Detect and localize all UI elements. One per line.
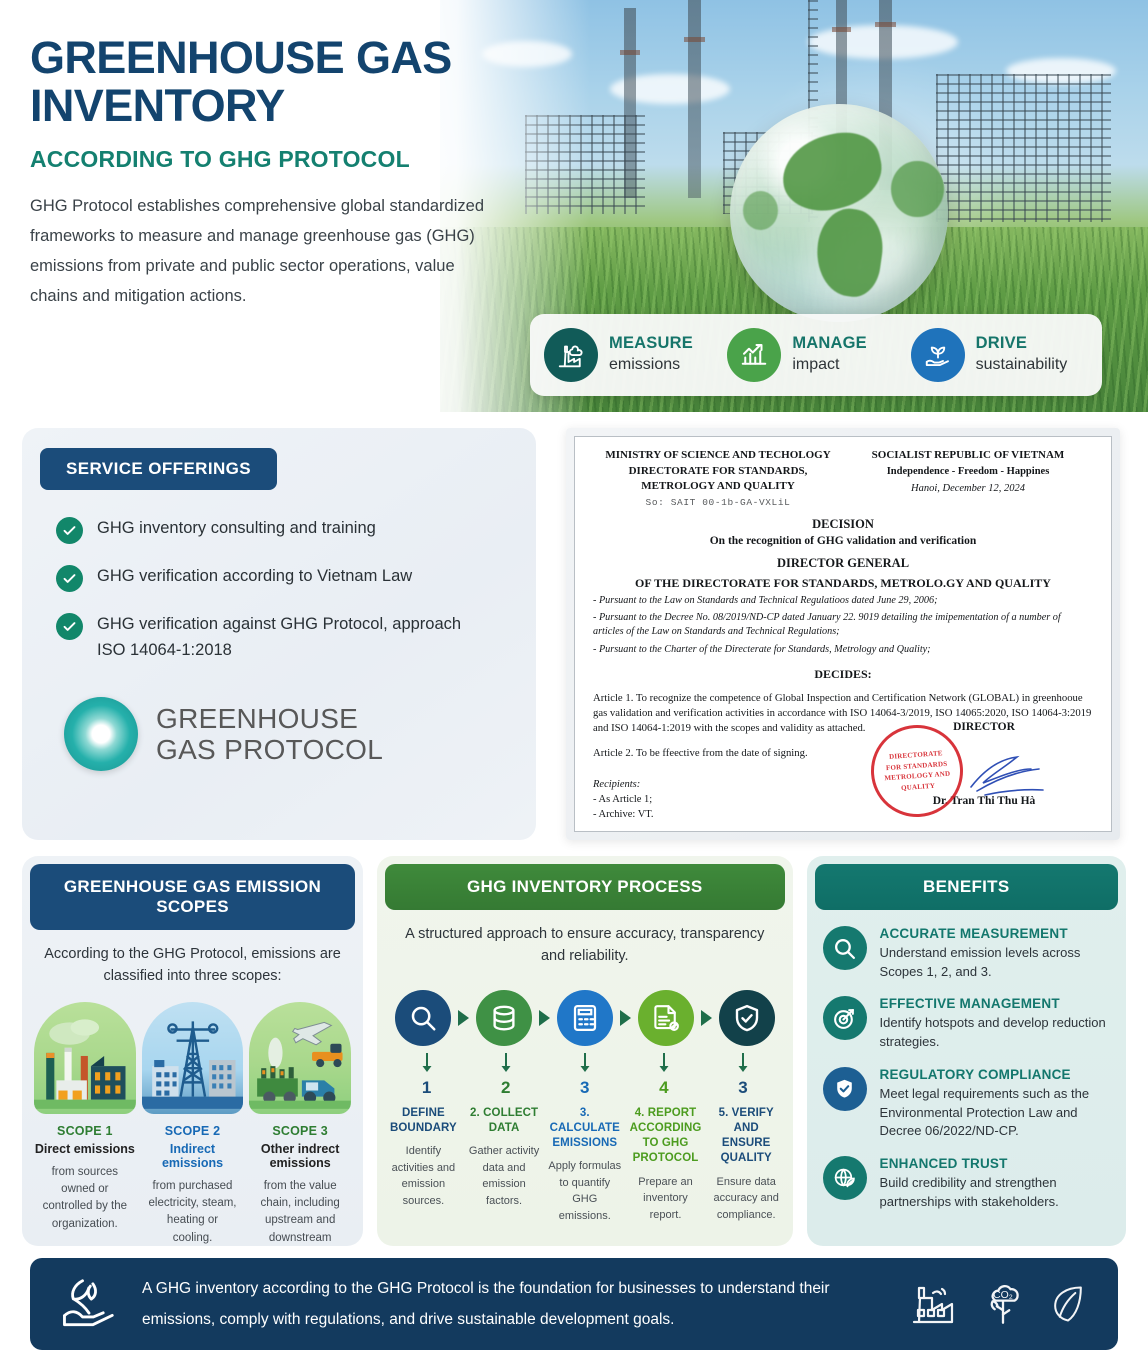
magnifier-icon <box>408 1003 438 1033</box>
process-number: 2 <box>466 1052 545 1098</box>
target-arrow-icon <box>823 996 867 1040</box>
bar-chart-growth-icon <box>727 328 781 382</box>
cert-place-date: Hanoi, December 12, 2024 <box>843 483 1093 494</box>
cert-metrology: METROLOGY AND QUALITY <box>593 479 843 495</box>
database-icon <box>489 1003 519 1033</box>
cert-directorate: DIRECTORATE FOR STANDARDS, <box>593 464 843 480</box>
badge-sub: impact <box>792 355 867 376</box>
report-leaf-icon <box>651 1003 681 1033</box>
badge-measure: MEASURE emissions <box>544 328 721 382</box>
process-arrow-icon <box>458 1010 469 1026</box>
footer-banner: A GHG inventory according to the GHG Pro… <box>30 1258 1118 1350</box>
scope-kind: Direct emissions <box>34 1142 136 1156</box>
svg-text:CO₂: CO₂ <box>993 1290 1013 1301</box>
service-item-label: GHG verification against GHG Protocol, a… <box>97 612 487 663</box>
benefits-panel-header: BENEFITS <box>815 864 1118 910</box>
scope-desc: from sources owned or controlled by the … <box>34 1164 136 1233</box>
scopes-panel-header: GREENHOUSE GAS EMISSION SCOPES <box>30 864 355 930</box>
benefits-list: ACCURATE MEASUREMENT Understand emission… <box>807 910 1126 1211</box>
page-title: GREENHOUSE GAS INVENTORY <box>30 34 500 130</box>
down-arrow-icon <box>658 1052 670 1076</box>
power-tower-illustration <box>142 1002 244 1114</box>
process-step-1-icon <box>395 990 451 1046</box>
page-subtitle: ACCORDING TO GHG PROTOCOL <box>30 146 500 173</box>
signature-icon <box>963 747 1083 801</box>
certificate-image: MINISTRY OF SCIENCE AND TECHOLOGY DIRECT… <box>566 428 1120 840</box>
process-number: 3 <box>545 1052 624 1098</box>
service-item-label: GHG verification according to Vietnam La… <box>97 564 412 590</box>
scope-title: SCOPE 2 <box>142 1124 244 1138</box>
benefit-title: REGULATORY COMPLIANCE <box>880 1067 1110 1082</box>
benefit-item: REGULATORY COMPLIANCE Meet legal require… <box>823 1067 1110 1141</box>
hero-badge-bar: MEASURE emissions MANAGE impact <box>530 314 1102 396</box>
scope-2: SCOPE 2 Indirect emissions from purchase… <box>142 1002 244 1246</box>
badge-title: MANAGE <box>792 334 867 354</box>
cert-recipient-2: - Archive: VT. <box>593 807 1093 822</box>
benefit-desc: Understand emission levels across Scopes… <box>880 944 1110 981</box>
process-panel-subtitle: A structured approach to ensure accuracy… <box>399 923 771 968</box>
check-circle-icon <box>56 613 83 640</box>
process-panel-header: GHG INVENTORY PROCESS <box>385 864 785 910</box>
globe-leaf-icon <box>823 1156 867 1200</box>
mid-section: SERVICE OFFERINGS GHG inventory consulti… <box>0 412 1148 852</box>
process-arrow-icon <box>701 1010 712 1026</box>
cert-of-directorate: OF THE DIRECTORATE FOR STANDARDS, METROL… <box>593 576 1093 591</box>
process-step-label-1: DEFINE BOUNDARY Identify activities and … <box>383 1106 464 1225</box>
down-arrow-icon <box>737 1052 749 1076</box>
benefit-title: ACCURATE MEASUREMENT <box>880 926 1110 941</box>
service-offerings-header: SERVICE OFFERINGS <box>40 448 277 490</box>
cert-motto: Independence - Freedom - Happines <box>843 464 1093 479</box>
badge-title: MEASURE <box>609 334 693 354</box>
factory-illustration <box>34 1002 136 1114</box>
process-numbers-row: 1 2 3 4 3 <box>377 1052 793 1098</box>
benefit-title: EFFECTIVE MANAGEMENT <box>880 996 1110 1011</box>
hand-leaf-icon <box>911 328 965 382</box>
process-step-label-5: 5. VERIFY AND ENSURE QUALITY Ensure data… <box>706 1106 787 1225</box>
list-item: GHG verification according to Vietnam La… <box>56 564 536 592</box>
infographic-page: GREENHOUSE GAS INVENTORY ACCORDING TO GH… <box>0 0 1148 1368</box>
badge-sub: emissions <box>609 355 693 376</box>
benefit-title: ENHANCED TRUST <box>880 1156 1110 1171</box>
process-step-4-icon <box>638 990 694 1046</box>
cert-number: So: SAIT 00-1b-GA-VXLiL <box>593 497 843 508</box>
scopes-grid: SCOPE 1 Direct emissions from sources ow… <box>22 1002 363 1246</box>
scope-title: SCOPE 1 <box>34 1124 136 1138</box>
scope-desc: from purchased electricity, steam, heati… <box>142 1178 244 1246</box>
footer-text: A GHG inventory according to the GHG Pro… <box>142 1273 884 1335</box>
magnifier-icon <box>823 926 867 970</box>
co2-tree-icon: CO₂ <box>976 1279 1030 1329</box>
badge-drive: DRIVE sustainability <box>911 328 1088 382</box>
glass-globe-icon <box>730 104 948 322</box>
benefits-panel: BENEFITS ACCURATE MEASUREMENT Understand… <box>807 856 1126 1246</box>
scope-1: SCOPE 1 Direct emissions from sources ow… <box>34 1002 136 1246</box>
process-number: 3 <box>703 1052 782 1098</box>
cert-signature-block: DIRECTOR DIRECTORATE FOR STANDARDS METRO… <box>879 721 1089 807</box>
factory-icon <box>906 1280 960 1328</box>
scope-kind: Other indrect emissions <box>249 1142 351 1170</box>
footer-icons: CO₂ <box>906 1279 1090 1329</box>
logo-line-2: GAS PROTOCOL <box>156 734 383 765</box>
down-arrow-icon <box>421 1052 433 1076</box>
badge-manage: MANAGE impact <box>727 328 904 382</box>
benefit-desc: Build credibility and strengthen partner… <box>880 1174 1110 1211</box>
benefit-desc: Identify hotspots and develop reduction … <box>880 1014 1110 1051</box>
process-step-label-2: 2. COLLECT DATA Gather activity data and… <box>464 1106 545 1225</box>
benefit-desc: Meet legal requirements such as the Envi… <box>880 1085 1110 1141</box>
benefit-item: ACCURATE MEASUREMENT Understand emission… <box>823 926 1110 981</box>
process-number: 4 <box>624 1052 703 1098</box>
down-arrow-icon <box>500 1052 512 1076</box>
benefit-item: EFFECTIVE MANAGEMENT Identify hotspots a… <box>823 996 1110 1051</box>
process-step-2-icon <box>476 990 532 1046</box>
scope-desc: from the value chain, including upstream… <box>249 1178 351 1246</box>
service-offerings-card: SERVICE OFFERINGS GHG inventory consulti… <box>22 428 536 840</box>
hero-text-block: GREENHOUSE GAS INVENTORY ACCORDING TO GH… <box>30 34 500 311</box>
ghg-protocol-mark-icon <box>64 697 138 771</box>
scopes-panel-subtitle: According to the GHG Protocol, emissions… <box>44 943 341 988</box>
process-panel: GHG INVENTORY PROCESS A structured appro… <box>377 856 793 1246</box>
process-labels-row: DEFINE BOUNDARY Identify activities and … <box>377 1106 793 1225</box>
down-arrow-icon <box>579 1052 591 1076</box>
cert-republic: SOCIALIST REPUBLIC OF VIETNAM <box>843 448 1093 464</box>
list-item: GHG verification against GHG Protocol, a… <box>56 612 536 663</box>
cert-director-general: DIRECTOR GENERAL <box>593 556 1093 571</box>
badge-title: DRIVE <box>976 334 1068 354</box>
benefit-item: ENHANCED TRUST Build credibility and str… <box>823 1156 1110 1211</box>
process-steps-row <box>377 990 793 1046</box>
cert-decides: DECIDES: <box>593 667 1093 682</box>
hand-leaf-icon <box>58 1273 120 1335</box>
cert-pursuant-3: - Pursuant to the Charter of the Directe… <box>593 643 1093 657</box>
scope-kind: Indirect emissions <box>142 1142 244 1170</box>
process-step-label-4: 4. REPORT ACCORDING TO GHG PROTOCOL Prep… <box>625 1106 706 1225</box>
ghg-protocol-logo: GREENHOUSE GAS PROTOCOL <box>64 697 536 771</box>
process-step-label-3: 3. CALCULATE EMISSIONS Apply formulas to… <box>544 1106 625 1225</box>
hero-paragraph: GHG Protocol establishes comprehensive g… <box>30 191 500 311</box>
badge-sub: sustainability <box>976 355 1068 376</box>
scope-3: SCOPE 3 Other indrect emissions from the… <box>249 1002 351 1246</box>
factory-cloud-icon <box>544 328 598 382</box>
cert-pursuant-1: - Pursuant to the Law on Standards and T… <box>593 594 1093 608</box>
process-step-3-icon <box>557 990 613 1046</box>
scopes-panel: GREENHOUSE GAS EMISSION SCOPES According… <box>22 856 363 1246</box>
panels-row: GREENHOUSE GAS EMISSION SCOPES According… <box>0 856 1148 1246</box>
process-arrow-icon <box>539 1010 550 1026</box>
check-circle-icon <box>56 517 83 544</box>
scope-title: SCOPE 3 <box>249 1124 351 1138</box>
cert-pursuant-2: - Pursuant to the Decree No. 08/2019/ND-… <box>593 611 1093 640</box>
shield-check-icon <box>732 1003 762 1033</box>
shield-check-icon <box>823 1067 867 1111</box>
check-circle-icon <box>56 565 83 592</box>
transport-illustration <box>249 1002 351 1114</box>
process-step-5-icon <box>719 990 775 1046</box>
leaf-icon <box>1046 1279 1090 1329</box>
list-item: GHG inventory consulting and training <box>56 516 536 544</box>
service-item-label: GHG inventory consulting and training <box>97 516 376 542</box>
cert-decision-title: DECISION <box>593 517 1093 532</box>
cert-ministry: MINISTRY OF SCIENCE AND TECHOLOGY <box>593 448 843 464</box>
logo-line-1: GREENHOUSE <box>156 703 383 734</box>
cert-decision-sub: On the recognition of GHG validation and… <box>593 535 1093 547</box>
calculator-icon <box>570 1003 600 1033</box>
service-offerings-list: GHG inventory consulting and training GH… <box>56 516 536 663</box>
process-number: 1 <box>387 1052 466 1098</box>
process-arrow-icon <box>620 1010 631 1026</box>
